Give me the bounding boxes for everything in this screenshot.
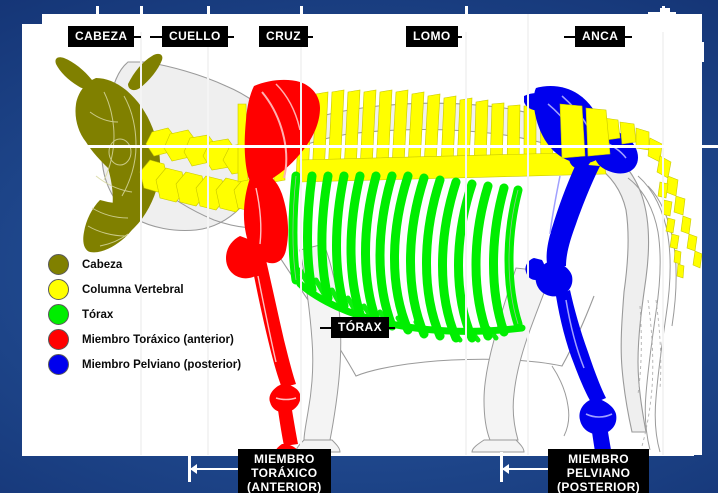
dash-cuello-right (222, 36, 234, 38)
legend-label-cabeza: Cabeza (82, 259, 122, 271)
legend-label-torax: Tórax (82, 309, 113, 321)
legend-swatch-torax (48, 304, 69, 325)
miembro-pelviano-line-1: MIEMBRO (557, 452, 640, 466)
region-label-miembro-toracico: MIEMBRO TORÁXICO (ANTERIOR) (238, 449, 331, 493)
legend-item-cabeza: Cabeza (48, 252, 241, 277)
dash-torax-right (384, 327, 395, 329)
dash-cabeza-right (131, 36, 141, 38)
legend-swatch-miembro-toracico (48, 329, 69, 350)
region-label-cabeza: CABEZA (68, 26, 134, 47)
legend-label-columna-vertebral: Columna Vertebral (82, 284, 184, 296)
miembro-toracico-line-3: (ANTERIOR) (247, 480, 322, 493)
region-label-cuello: CUELLO (162, 26, 228, 47)
horizontal-guide-line (28, 145, 718, 148)
region-label-anca: ANCA (575, 26, 625, 47)
soft-guide-2 (207, 14, 209, 455)
dash-cuello-left (150, 36, 162, 38)
region-label-cuello-text: CUELLO (169, 29, 221, 43)
tick-cabeza-cuello (140, 6, 143, 32)
legend-label-miembro-pelviano: Miembro Pelviano (posterior) (82, 359, 241, 371)
region-label-cruz-text: CRUZ (266, 29, 301, 43)
tick-anca-end (662, 6, 665, 32)
soft-guide-1 (140, 14, 142, 455)
tick-lomo-anca (465, 6, 468, 32)
legend-label-miembro-toracico: Miembro Toráxico (anterior) (82, 334, 234, 346)
miembro-pelviano-line-2: PELVIANO (557, 466, 640, 480)
legend-item-columna-vertebral: Columna Vertebral (48, 277, 241, 302)
legend-item-torax: Tórax (48, 302, 241, 327)
miembro-toracico-line-2: TORÁXICO (247, 466, 322, 480)
miembro-toracico-line-1: MIEMBRO (247, 452, 322, 466)
legend-swatch-cabeza (48, 254, 69, 275)
region-label-torax-text: TÓRAX (338, 320, 382, 334)
soft-guide-4 (465, 14, 467, 455)
legend: Cabeza Columna Vertebral Tórax Miembro T… (48, 252, 241, 377)
soft-guide-6 (662, 14, 664, 455)
legend-swatch-miembro-pelviano (48, 354, 69, 375)
dash-anca-left (564, 36, 575, 38)
cow-skeleton-illustration (0, 0, 718, 493)
region-label-anca-text: ANCA (582, 29, 618, 43)
dash-torax-left (320, 327, 331, 329)
slide-canvas: CABEZA CUELLO CRUZ LOMO ANCA TÓRAX Cabez… (0, 0, 718, 493)
measure-arrowhead-foreleg-left (190, 464, 197, 474)
miembro-pelviano-line-3: (POSTERIOR) (557, 480, 640, 493)
region-label-lomo-text: LOMO (413, 29, 451, 43)
soft-guide-3 (300, 14, 302, 455)
dash-lomo-right (452, 36, 462, 38)
dash-anca-right (622, 36, 632, 38)
region-label-cabeza-text: CABEZA (75, 29, 127, 43)
legend-item-miembro-pelviano: Miembro Pelviano (posterior) (48, 352, 241, 377)
region-label-lomo: LOMO (406, 26, 458, 47)
legend-swatch-columna-vertebral (48, 279, 69, 300)
region-label-torax: TÓRAX (331, 317, 389, 338)
legend-item-miembro-toracico: Miembro Toráxico (anterior) (48, 327, 241, 352)
dash-cruz-right (303, 36, 313, 38)
region-label-miembro-pelviano: MIEMBRO PELVIANO (POSTERIOR) (548, 449, 649, 493)
region-label-cruz: CRUZ (259, 26, 308, 47)
measure-arrowhead-hindleg-left (502, 464, 509, 474)
soft-guide-5 (527, 14, 529, 455)
